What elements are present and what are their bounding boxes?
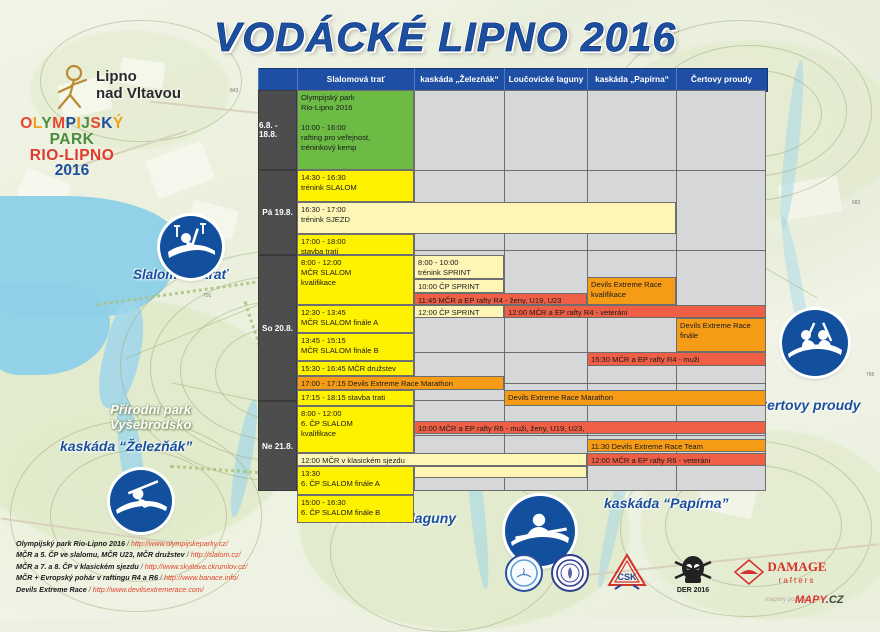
event-cell[interactable]: 12:00 MČR a EP rafty R6 - veteráni <box>587 453 766 466</box>
op-logo-line-3: RIO-LIPNO <box>12 148 132 164</box>
event-cell[interactable]: Devils Extreme Race Marathon <box>504 390 766 406</box>
event-cell[interactable]: 10:00 ČP SPRINT <box>414 279 504 293</box>
op-logo-letter: M <box>52 115 65 132</box>
event-cell[interactable]: 8:00 - 12:00 MČR SLALOM kvalifikace <box>297 255 414 305</box>
spot-height: 766 <box>866 372 874 378</box>
footer-url[interactable]: http://slalom.cz/ <box>191 550 241 559</box>
map-label-certovy-proudy: Čertovy proudy <box>757 397 860 413</box>
table-body: 6.8. - 18.8. Pá 19.8. So 20.8. Ne 21.8. … <box>258 90 766 491</box>
column-header-zeleznak: kaskáda „Železňák“ <box>414 68 504 90</box>
date-cell: So 20.8. <box>258 255 297 401</box>
event-cell[interactable]: 17:00 - 18:00 stavba trati <box>297 234 414 255</box>
rafting-icon-certovy <box>782 310 848 376</box>
event-cell[interactable]: 12:00 ČP SPRINT <box>414 305 504 318</box>
event-cell[interactable]: 8:00 - 12:00 6. ČP SLALOM kvalifikace <box>297 406 414 453</box>
date-cell: Ne 21.8. <box>258 401 297 491</box>
event-cell[interactable]: 15:30 - 16:45 MČR družstev <box>297 361 414 376</box>
footer-url[interactable]: http://www.olympijskeparky.cz/ <box>131 539 228 548</box>
date-cell: 6.8. - 18.8. <box>258 90 297 170</box>
der-logo: DER 2016 <box>665 552 721 594</box>
footer-url[interactable]: http://www.banace.info/ <box>164 573 238 582</box>
event-cell[interactable]: 12:00 MČR v klasickém sjezdu <box>297 453 587 466</box>
map-label-kaskada-zeleznak: kaskáda “Železňák” <box>60 438 192 454</box>
column-header-loucovicke: Loučovické laguny <box>504 68 587 90</box>
footer-links: Olympijský park Rio-Lipno 2016 / http://… <box>16 538 346 595</box>
footer-line: MČR + Evropský pohár v raftingu R4 a R6 … <box>16 572 346 583</box>
op-logo-line-1: OLYMPIJSKÝ <box>12 116 132 132</box>
spot-height: 701 <box>203 293 211 299</box>
op-logo-letter: Y <box>41 115 52 132</box>
footer-line: Olympijský park Rio-Lipno 2016 / http://… <box>16 538 346 549</box>
event-cell[interactable]: 16:30 - 17:00 trénink SJEZD <box>297 202 676 234</box>
footer-separator: / <box>89 585 91 594</box>
poster-canvas: 843 683 766 701 VODÁCKÉ LIPNO 2016 Lipno… <box>0 0 880 619</box>
footer-separator: / <box>187 550 189 559</box>
op-logo-letter: P <box>66 115 77 132</box>
event-cell[interactable]: 12:00 MČR a EP rafty R4 - veteráni <box>504 305 766 318</box>
column-header-slalomova-trat: Slalomová trať <box>297 68 414 90</box>
op-logo-letter: J <box>81 115 90 132</box>
spot-height: 683 <box>852 200 860 206</box>
footer-separator: / <box>160 573 162 582</box>
op-logo-letter: S <box>90 115 101 132</box>
mapy-brand: MAPY <box>795 594 826 606</box>
footer-separator: / <box>141 562 143 571</box>
olympic-figure-icon <box>50 64 96 112</box>
event-cell[interactable]: 11:45 MČR a EP rafty R4 - ženy, U19, U23 <box>414 293 587 305</box>
event-cell[interactable]: 17:15 - 18:15 stavba trati <box>297 390 414 406</box>
event-cell[interactable]: 14:30 - 16:30 trénink SLALOM <box>297 170 414 202</box>
op-logo-line-4: 2016 <box>12 163 132 179</box>
event-cell[interactable]: 13:45 - 15:15 MČR SLALOM finále B <box>297 333 414 361</box>
event-cell[interactable]: 15:00 - 16:30 6. ČP SLALOM finále B <box>297 495 414 523</box>
spot-height: 843 <box>230 88 238 94</box>
schedule-table: Slalomová trať kaskáda „Železňák“ Loučov… <box>258 68 766 491</box>
damage-logo-text: DAMAGE <box>767 559 826 574</box>
sponsor-logo-1: ⌇ <box>505 554 543 592</box>
footer-line: Devils Extreme Race / http://www.devilse… <box>16 584 346 595</box>
kayak-icon <box>110 470 172 532</box>
svg-text:⌇: ⌇ <box>522 567 526 577</box>
event-cell[interactable]: 17:00 - 17:15 Devils Extreme Race Marath… <box>297 376 504 390</box>
olympijsky-park-logo: OLYMPIJSKÝ PARK RIO-LIPNO 2016 <box>12 116 132 179</box>
footer-org-name: Devils Extreme Race <box>16 585 87 594</box>
slalom-icon <box>160 216 222 278</box>
footer-org-name: MČR a 7. a 8. ČP v klasickém sjezdu <box>16 562 139 571</box>
event-cell <box>414 466 587 478</box>
event-cell[interactable]: 10:00 MČR a EP rafty R6 - muži, ženy, U1… <box>414 421 766 434</box>
op-logo-letter: O <box>20 115 33 132</box>
event-cell[interactable]: 12:30 - 13:45 MČR SLALOM finále A <box>297 305 414 333</box>
footer-line: MČR a 7. a 8. ČP v klasickém sjezdu / ht… <box>16 561 346 572</box>
event-cell[interactable]: Devils Extreme Race finále <box>676 318 766 352</box>
event-cell[interactable]: 11:30 Devils Extreme Race Team <box>587 439 766 452</box>
footer-url[interactable]: http://www.devilsextremerace.com/ <box>93 585 204 594</box>
damage-rafters-logo: DAMAGE rafters <box>733 552 833 594</box>
rafters-logo-text: rafters <box>779 576 816 585</box>
op-logo-letter: K <box>101 115 113 132</box>
sponsor-logo-2 <box>551 554 589 592</box>
footer-url[interactable]: http://www.skvitava.ckrumlov.cz/ <box>145 562 248 571</box>
map-label-kaskada-papirna: kaskáda “Papírna” <box>604 495 729 511</box>
mapy-tld: .CZ <box>826 594 844 606</box>
event-cell[interactable]: 13:30 6. ČP SLALOM finále A <box>297 466 414 495</box>
column-header-date <box>258 68 297 90</box>
event-cell[interactable]: Olympijský park Rio-Lipno 2016 10:00 - 1… <box>297 90 414 170</box>
map-label-lipno-nad-vltavou: Lipno nad Vltavou <box>96 68 181 103</box>
footer-line: MČR a 5. ČP ve slalomu, MČR U23, MČR dru… <box>16 549 346 560</box>
page-title: VODÁCKÉ LIPNO 2016 <box>150 14 740 60</box>
sponsor-logos: ⌇ CSK <box>505 552 825 596</box>
footer-org-name: Olympijský park Rio-Lipno 2016 <box>16 539 125 548</box>
der-logo-text: DER 2016 <box>677 587 709 594</box>
footer-org-name: MČR a 5. ČP ve slalomu, MČR U23, MČR dru… <box>16 550 185 559</box>
csk-logo-text: CSK <box>617 572 637 582</box>
map-label-prirodni-park: Přírodní park Vyšebrodsko <box>110 402 191 433</box>
event-cell[interactable]: 15:30 MČR a EP rafty R4 - muži <box>587 352 766 366</box>
op-logo-letter: Ý <box>113 115 124 132</box>
event-cell[interactable]: 8:00 - 10:00 trénink SPRINT <box>414 255 504 279</box>
op-logo-line-2: PARK <box>12 132 132 148</box>
column-header-papirna: kaskáda „Papírna“ <box>587 68 676 90</box>
footer-org-name: MČR + Evropský pohár v raftingu R4 a R6 <box>16 573 158 582</box>
date-cell: Pá 19.8. <box>258 170 297 255</box>
mapy-cz-attribution: MAPY.CZ <box>795 594 844 606</box>
csk-logo: CSK <box>601 552 653 592</box>
event-cell[interactable]: Devils Extreme Race kvalifikace <box>587 277 676 305</box>
column-header-certovy: Čertovy proudy <box>676 68 766 90</box>
footer-separator: / <box>127 539 129 548</box>
